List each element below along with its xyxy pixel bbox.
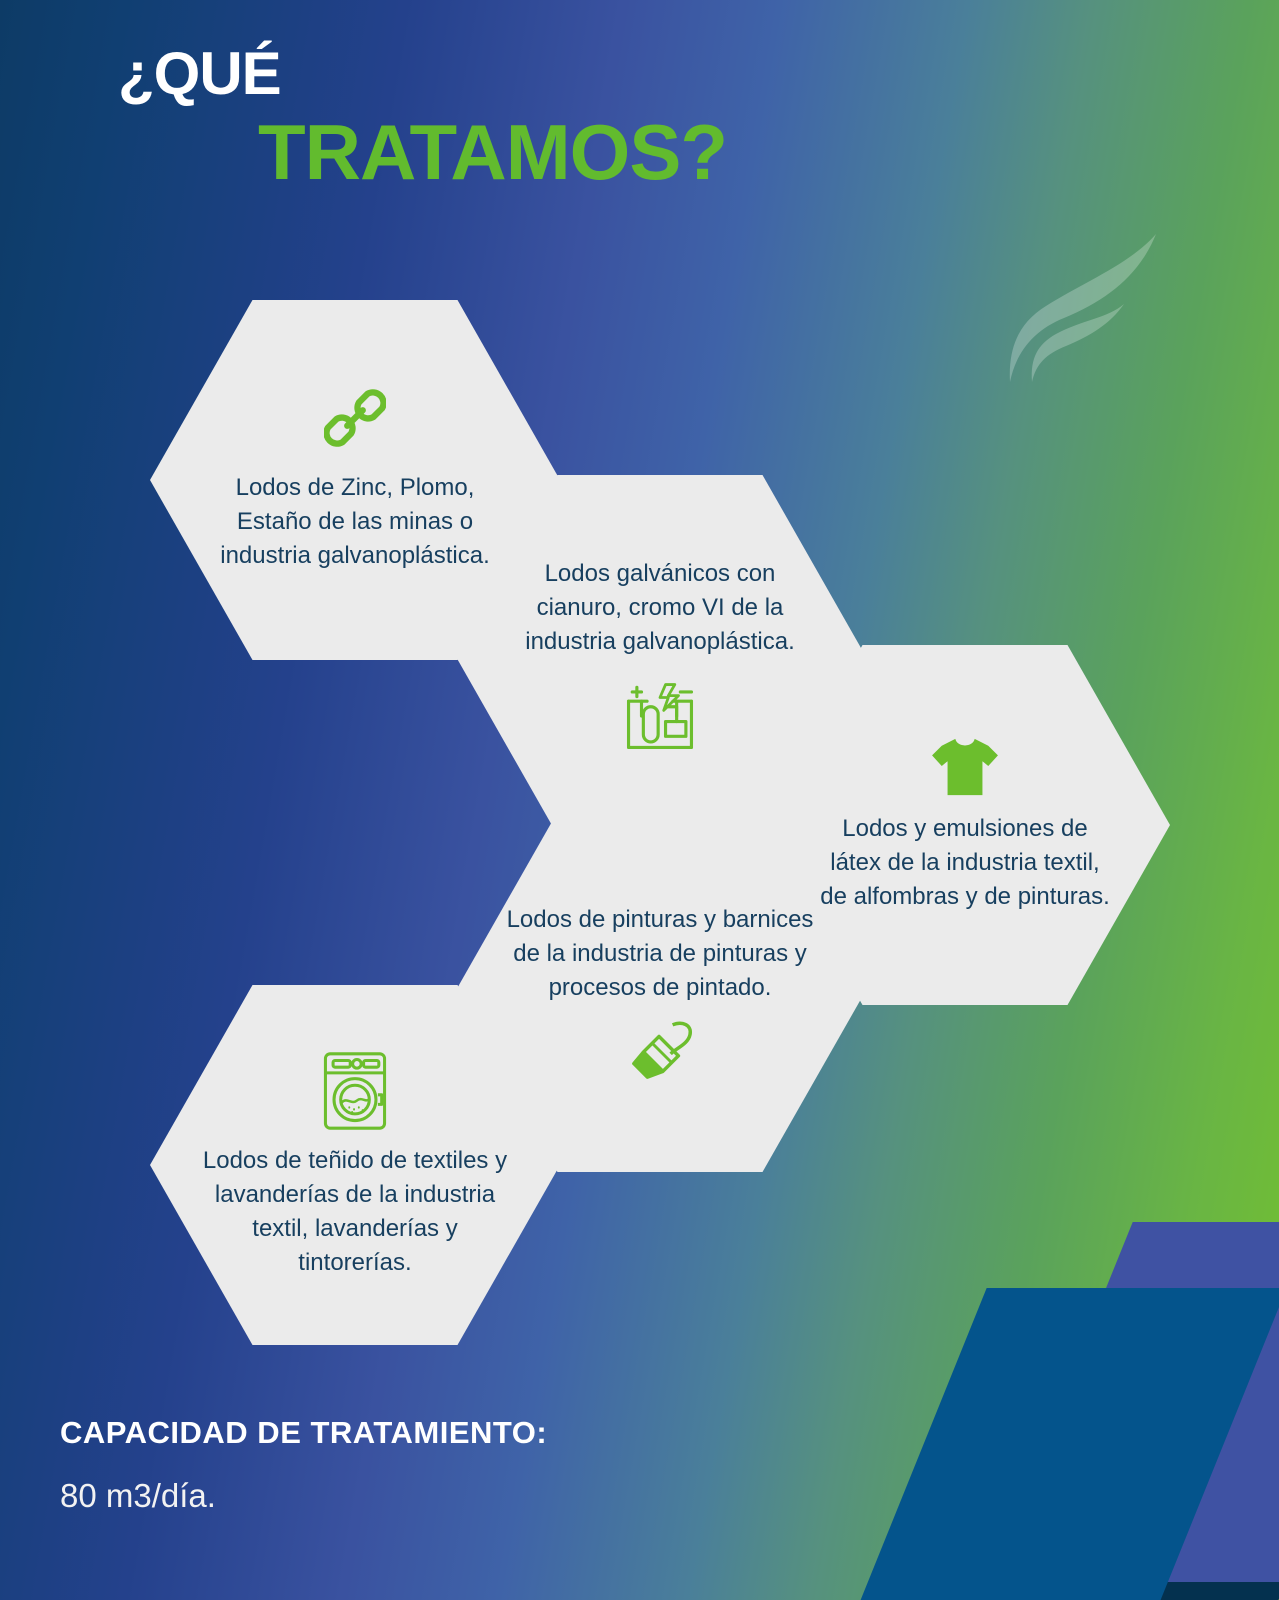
paint-brush-icon: [624, 1019, 696, 1081]
hexagon-text: Lodos galvánicos con cianuro, cromo VI d…: [500, 557, 820, 659]
hexagon-cluster: Lodos de Zinc, Plomo, Estaño de las mina…: [0, 0, 1279, 1600]
poster-footer: CAPACIDAD DE TRATAMIENTO: 80 m3/día.: [60, 1415, 820, 1515]
capacity-label: CAPACIDAD DE TRATAMIENTO:: [60, 1415, 820, 1451]
electrolysis-cell-icon: [619, 679, 701, 753]
infographic-poster: ¿QUÉ TRATAMOS? Lodos de Zinc, Plomo, Est…: [0, 0, 1279, 1600]
capacity-value: 80 m3/día.: [60, 1477, 820, 1515]
hexagon-text: Lodos de teñido de textiles y lavandería…: [185, 1144, 525, 1280]
tshirt-icon: [930, 736, 1000, 798]
hexagon-text: Lodos y emulsiones de látex de la indust…: [800, 812, 1130, 914]
washing-machine-icon: [317, 1050, 393, 1132]
hexagon-text: Lodos de pinturas y barnices de la indus…: [485, 903, 835, 1005]
chain-link-icon: [324, 387, 386, 449]
hexagon-text: Lodos de Zinc, Plomo, Estaño de las mina…: [190, 471, 520, 573]
